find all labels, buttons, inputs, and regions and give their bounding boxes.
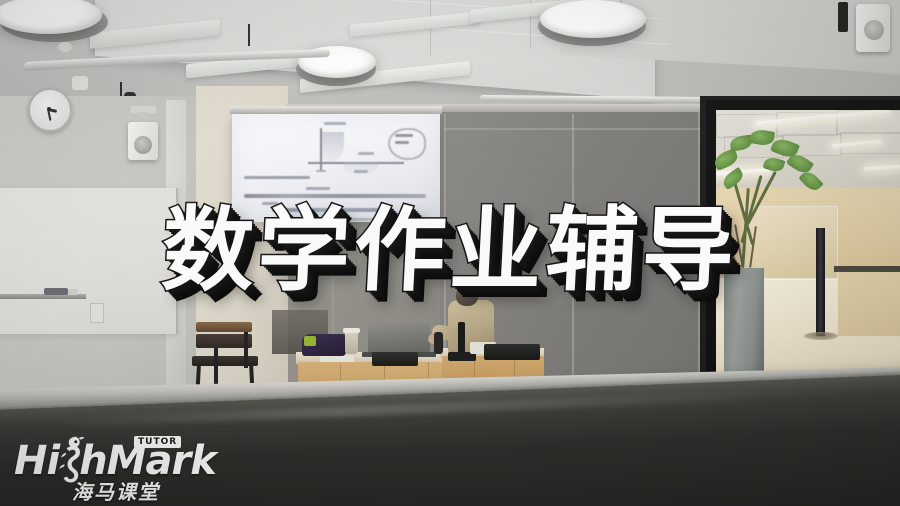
brand-logo: HihMark TUTOR 海马课堂 — [14, 436, 224, 498]
slide-equation-numerator — [306, 187, 330, 190]
brand-wordmark-part1: Hi — [14, 438, 59, 484]
microphone-secondary — [434, 332, 443, 354]
title-overlay: 数学作业辅导 — [0, 205, 900, 297]
plant-leaf — [763, 155, 786, 173]
brand-chinese-name: 海马课堂 — [72, 476, 160, 505]
slide-annotation-text — [395, 141, 409, 144]
disc-ceiling-light-right — [540, 0, 646, 38]
coffee-cup — [345, 330, 358, 354]
chair-backrest-top — [196, 322, 252, 332]
tutor-badge: TUTOR — [134, 436, 181, 448]
light-switch[interactable] — [90, 303, 104, 323]
wall-clock — [28, 88, 72, 132]
screenshot-root: 数学作业辅导 HihMark TUTOR 海马课堂 — [0, 0, 900, 506]
slide-graph-curve — [322, 132, 344, 162]
coffee-cup-lid — [343, 328, 360, 333]
slide-text-line — [244, 176, 310, 179]
corridor-post-base — [804, 332, 838, 340]
speaker-cone — [864, 20, 884, 40]
ceiling-projector — [72, 76, 88, 90]
hanging-cable — [248, 24, 250, 46]
av-control-box — [372, 352, 418, 366]
microphone — [458, 322, 465, 356]
panel-seam — [444, 128, 702, 130]
clock-center — [47, 107, 51, 111]
slide-annotation-circle — [388, 128, 426, 160]
speaker-cone — [134, 136, 152, 154]
speaker-mount — [838, 2, 848, 32]
projector-screen-frame — [230, 106, 442, 114]
slide-annotation-text — [395, 134, 413, 137]
plant-leaf — [720, 167, 746, 190]
slide-graph-label — [354, 170, 368, 173]
chair-frame — [244, 332, 248, 368]
slide-graph-label — [316, 170, 326, 172]
av-control-box-secondary — [484, 344, 540, 360]
laptop — [368, 324, 430, 354]
backpack-tag — [304, 336, 316, 346]
slide-graph-label — [324, 122, 346, 125]
papers-on-desk — [320, 356, 354, 362]
ceiling-sensor — [58, 42, 72, 52]
slide-graph-label — [358, 152, 374, 155]
